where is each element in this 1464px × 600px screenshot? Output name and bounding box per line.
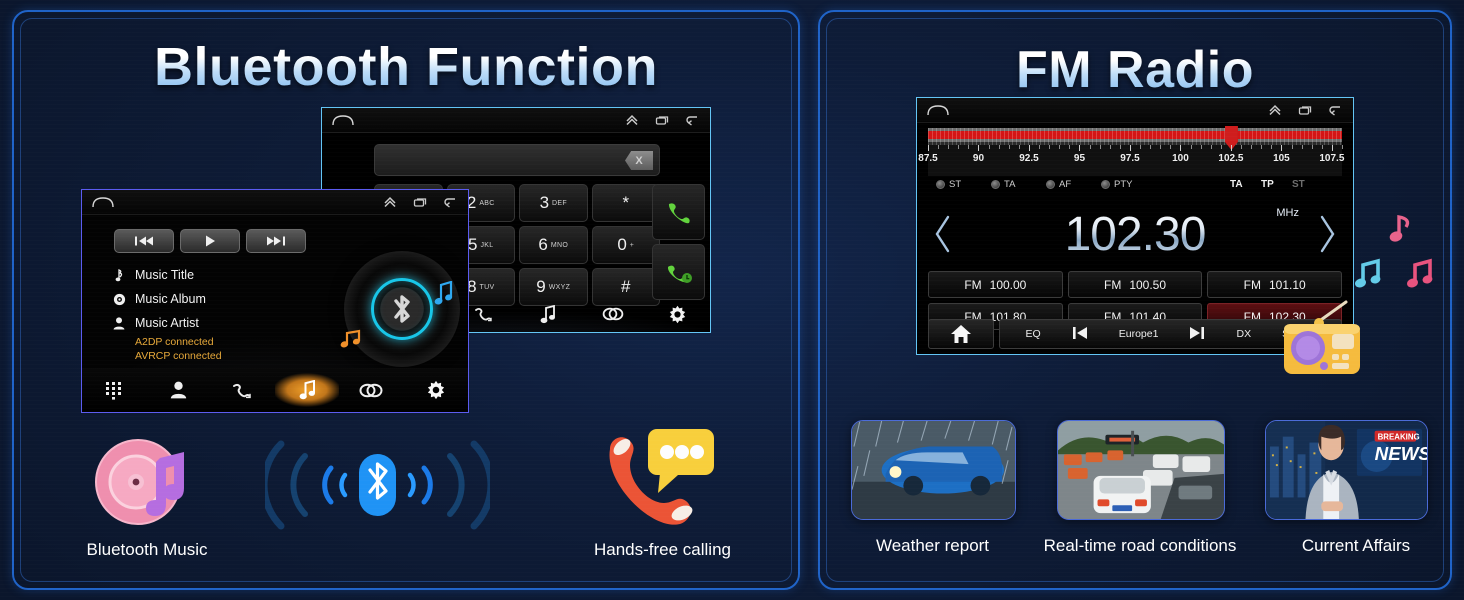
caption-news: Current Affairs: [1270, 536, 1442, 556]
breaking-badge-text: BREAKING: [1378, 433, 1420, 442]
weather-photo: [852, 421, 1015, 519]
key-star[interactable]: *: [592, 184, 661, 222]
fm-band-dial[interactable]: 87.59092.59597.5100102.5105107.5: [928, 128, 1342, 176]
key-num: #: [621, 277, 630, 297]
home-outline-icon[interactable]: [92, 197, 114, 208]
flag-st-right: ST: [1292, 179, 1305, 190]
preset-freq: 100.00: [990, 278, 1027, 292]
indicator-dot: [1101, 180, 1110, 189]
person-icon: [112, 317, 126, 330]
fm-tick: [1322, 145, 1323, 149]
backspace-icon[interactable]: X: [625, 151, 653, 170]
fm-tick: [1201, 145, 1202, 149]
preset-freq: 101.10: [1269, 278, 1306, 292]
key-0[interactable]: 0 +: [592, 226, 661, 264]
track-info: Music Title Music Album: [112, 263, 222, 364]
home-icon: [950, 324, 972, 344]
orange-music-note-icon: [338, 329, 364, 351]
fm-tick: [1170, 145, 1171, 149]
chevron-up-double-icon[interactable]: [1267, 102, 1283, 118]
thumb-news[interactable]: BREAKING NEWS: [1265, 420, 1428, 520]
fm-tick: [1312, 145, 1313, 149]
next-track-icon: [266, 235, 286, 247]
playback-controls[interactable]: [114, 229, 306, 253]
fm-tick: [928, 145, 929, 151]
tab-keypad[interactable]: [82, 368, 146, 412]
fm-scale-labels: 87.59092.59597.5100102.5105107.5: [928, 153, 1342, 169]
flag-pty[interactable]: PTY: [1101, 179, 1132, 190]
next-station-button[interactable]: [1189, 326, 1205, 343]
tab-settings[interactable]: [645, 305, 710, 324]
fm-unit-label: MHz: [1276, 207, 1299, 219]
bluetooth-music-screen[interactable]: Music Title Music Album: [81, 189, 469, 413]
prev-station-icon: [1072, 326, 1088, 340]
contacts-icon: [170, 381, 187, 399]
indicator-dot: [936, 180, 945, 189]
key-num: 3: [540, 193, 549, 213]
fm-scale-label: 92.5: [1019, 153, 1038, 164]
fm-tick: [978, 145, 979, 151]
band-hatching: [928, 128, 1342, 145]
fm-tick: [989, 145, 990, 149]
hangup-button[interactable]: [652, 244, 705, 300]
next-frequency-button[interactable]: [1301, 214, 1353, 254]
fm-tick: [1211, 145, 1212, 149]
call-green-icon: [664, 200, 694, 224]
key-sub: ABC: [479, 200, 494, 207]
chevron-right-icon: [1316, 214, 1338, 254]
thumb-weather[interactable]: [851, 420, 1016, 520]
status-bar-actions[interactable]: [624, 112, 700, 128]
music-notes-icon: [1355, 212, 1455, 312]
flag-ta-right: TA: [1230, 179, 1243, 190]
fm-tick: [999, 145, 1000, 149]
fm-tick: [958, 145, 959, 149]
fm-tick: [1120, 145, 1121, 149]
flag-ta[interactable]: TA: [991, 179, 1015, 190]
home-outline-icon[interactable]: [927, 105, 949, 116]
key-sub: WXYZ: [549, 284, 570, 291]
fm-bottom-bar[interactable]: EQ Europe1 DX: [928, 319, 1342, 349]
key-sub: +: [630, 242, 634, 249]
key-num: 0: [617, 235, 626, 255]
fm-tick: [1191, 145, 1192, 149]
news-overlay-text: NEWS: [1375, 443, 1427, 464]
recent-apps-icon[interactable]: [412, 194, 428, 210]
fm-tick-marks: [928, 145, 1342, 153]
recent-apps-icon[interactable]: [654, 112, 670, 128]
preset-3[interactable]: FM 101.10: [1207, 271, 1342, 298]
call-end-green-icon: [664, 260, 694, 284]
pink-note-right: [1406, 261, 1434, 289]
preset-2[interactable]: FM 100.50: [1068, 271, 1203, 298]
bluetooth-waves-icon: [265, 430, 490, 540]
tab-link[interactable]: [581, 306, 646, 322]
fm-tick: [1009, 145, 1010, 149]
fm-tick: [1342, 145, 1343, 149]
call-button[interactable]: [652, 184, 705, 240]
android-status-bar: [82, 190, 468, 215]
disc-icon: [112, 293, 126, 306]
previous-track-button[interactable]: [114, 229, 174, 253]
next-track-button[interactable]: [246, 229, 306, 253]
caption-traffic: Real-time road conditions: [1020, 536, 1260, 556]
fm-tick: [1059, 145, 1060, 149]
key-num: 9: [536, 277, 545, 297]
music-player-body: Music Title Music Album: [82, 215, 468, 412]
tab-music[interactable]: [516, 305, 581, 324]
fm-tick: [1039, 145, 1040, 149]
preset-row: FM 100.00 FM 100.50 FM 101.10: [928, 271, 1342, 298]
track-artist-row: Music Artist: [112, 311, 222, 335]
call-history-icon: [474, 305, 494, 323]
traffic-photo: [1058, 421, 1224, 519]
flag-af[interactable]: AF: [1046, 179, 1071, 190]
track-album: Music Album: [135, 292, 206, 306]
key-num: 6: [538, 235, 547, 255]
indicator-dot: [1046, 180, 1055, 189]
next-station-icon: [1189, 326, 1205, 340]
vinyl-bluetooth-artwork: [344, 251, 460, 367]
avrcp-status: AVRCP connected: [135, 349, 222, 363]
preset-band: FM: [964, 278, 981, 292]
fm-indicator-row: ST TA AF PTY TA TP ST: [928, 179, 1342, 195]
key-sub: MNO: [551, 242, 568, 249]
back-arrow-icon[interactable]: [1327, 102, 1343, 118]
fm-tick: [1180, 145, 1181, 151]
fm-tick: [1100, 145, 1101, 149]
prev-station-button[interactable]: [1072, 326, 1088, 343]
fm-tick: [1281, 145, 1282, 151]
fm-tick: [1049, 145, 1050, 149]
key-6[interactable]: 6 MNO: [519, 226, 588, 264]
fm-tick: [1231, 145, 1232, 151]
preset-band: FM: [1104, 278, 1121, 292]
home-outline-icon[interactable]: [332, 115, 354, 126]
flag-label: PTY: [1114, 179, 1132, 190]
pink-note-top: [1388, 217, 1407, 243]
blue-music-note-icon: [432, 281, 454, 307]
music-note-icon: [112, 268, 126, 282]
fm-tick: [1150, 145, 1151, 149]
fm-tick: [1069, 145, 1070, 149]
recent-apps-icon[interactable]: [1297, 102, 1313, 118]
fm-tick: [1160, 145, 1161, 149]
fm-scale-label: 90: [973, 153, 984, 164]
track-title: Music Title: [135, 268, 194, 282]
dx-button[interactable]: DX: [1237, 328, 1252, 340]
fm-scale-label: 102.5: [1218, 153, 1243, 164]
fm-tick: [1130, 145, 1131, 151]
flag-st[interactable]: ST: [936, 179, 961, 190]
play-icon: [203, 234, 217, 248]
fm-tick: [1271, 145, 1272, 149]
settings-gear-icon: [426, 380, 446, 400]
fm-scale-label: 107.5: [1319, 153, 1344, 164]
flag-label: ST: [949, 179, 961, 190]
fm-radio-section-title: FM Radio: [820, 40, 1450, 100]
track-title-row: Music Title: [112, 263, 222, 287]
preset-1[interactable]: FM 100.00: [928, 271, 1063, 298]
bluetooth-glyph-icon: [387, 292, 417, 326]
chevron-up-double-icon[interactable]: [624, 112, 640, 128]
fm-scale-label: 95: [1074, 153, 1085, 164]
fm-band-bar[interactable]: [928, 128, 1342, 145]
indicator-dot: [991, 180, 1000, 189]
eq-button[interactable]: EQ: [1026, 328, 1041, 340]
caption-weather: Weather report: [840, 536, 1025, 556]
key-sub: JKL: [481, 242, 494, 249]
tab-settings[interactable]: [404, 368, 468, 412]
settings-gear-icon: [668, 305, 687, 324]
fm-tick: [1261, 145, 1262, 149]
call-history-icon: [232, 381, 254, 400]
home-button[interactable]: [928, 319, 994, 349]
fm-tick: [1302, 145, 1303, 149]
fm-tick: [1029, 145, 1030, 151]
bluetooth-music-label: Bluetooth Music: [72, 540, 222, 560]
keypad-icon: [105, 381, 123, 400]
fm-tick: [968, 145, 969, 149]
key-sub: DEF: [552, 200, 567, 207]
back-arrow-icon[interactable]: [684, 112, 700, 128]
fm-scale-label: 87.5: [918, 153, 937, 164]
fm-current-frequency: 102.30: [969, 207, 1301, 262]
music-icon: [540, 305, 556, 324]
status-bar-actions[interactable]: [382, 194, 458, 210]
fm-tick: [1241, 145, 1242, 149]
hands-free-calling-label: Hands-free calling: [580, 540, 745, 560]
tab-link[interactable]: [339, 368, 403, 412]
fm-tick: [948, 145, 949, 149]
fm-tick: [1221, 145, 1222, 149]
fm-tick: [1110, 145, 1111, 149]
chevron-left-icon: [932, 214, 954, 254]
flag-label: TA: [1004, 179, 1015, 190]
android-status-bar: [917, 98, 1353, 123]
retro-radio-3d-icon: [1282, 300, 1374, 378]
fm-scale-label: 105: [1273, 153, 1290, 164]
news-photo: BREAKING NEWS: [1266, 421, 1427, 519]
phone-chat-3d-icon: [600, 425, 722, 530]
call-buttons-column[interactable]: [652, 184, 705, 304]
blue-note-left: [1355, 261, 1381, 289]
fm-tick: [1332, 145, 1333, 151]
fm-tick: [1079, 145, 1080, 151]
fm-tick: [1019, 145, 1020, 149]
fm-tick: [1090, 145, 1091, 149]
fm-tick: [1292, 145, 1293, 149]
tab-music[interactable]: [275, 368, 339, 412]
key-num: 5: [468, 235, 477, 255]
back-arrow-icon[interactable]: [442, 194, 458, 210]
tab-call-history[interactable]: [211, 368, 275, 412]
prev-frequency-button[interactable]: [917, 214, 969, 254]
track-album-row: Music Album: [112, 287, 222, 311]
fm-scale-label: 100: [1172, 153, 1189, 164]
key-3[interactable]: 3 DEF: [519, 184, 588, 222]
flag-tp-right: TP: [1261, 179, 1274, 190]
link-icon: [358, 382, 384, 399]
fm-scale-label: 97.5: [1120, 153, 1139, 164]
a2dp-status: A2DP connected: [135, 335, 222, 349]
play-button[interactable]: [180, 229, 240, 253]
music-icon: [299, 380, 316, 400]
fm-tick: [938, 145, 939, 149]
promo-stage: Bluetooth Function: [0, 0, 1464, 600]
music-tab-bar[interactable]: [82, 368, 468, 412]
thumb-traffic[interactable]: [1057, 420, 1225, 520]
key-num: *: [622, 193, 629, 213]
dialer-number-input[interactable]: X: [374, 144, 660, 176]
android-status-bar: [322, 108, 710, 133]
fm-tick: [1251, 145, 1252, 149]
flag-label: AF: [1059, 179, 1071, 190]
chevron-up-double-icon[interactable]: [382, 194, 398, 210]
previous-track-icon: [134, 235, 154, 247]
track-artist: Music Artist: [135, 316, 199, 330]
bluetooth-section-title: Bluetooth Function: [14, 36, 798, 98]
vinyl-music-3d-icon: [88, 432, 206, 532]
preset-band: FM: [1244, 278, 1261, 292]
link-icon: [601, 306, 625, 322]
key-sub: TUV: [480, 284, 495, 291]
fm-tick: [1140, 145, 1141, 149]
status-bar-actions[interactable]: [1267, 102, 1343, 118]
tab-contacts[interactable]: [146, 368, 210, 412]
preset-freq: 100.50: [1129, 278, 1166, 292]
region-label[interactable]: Europe1: [1119, 328, 1159, 340]
